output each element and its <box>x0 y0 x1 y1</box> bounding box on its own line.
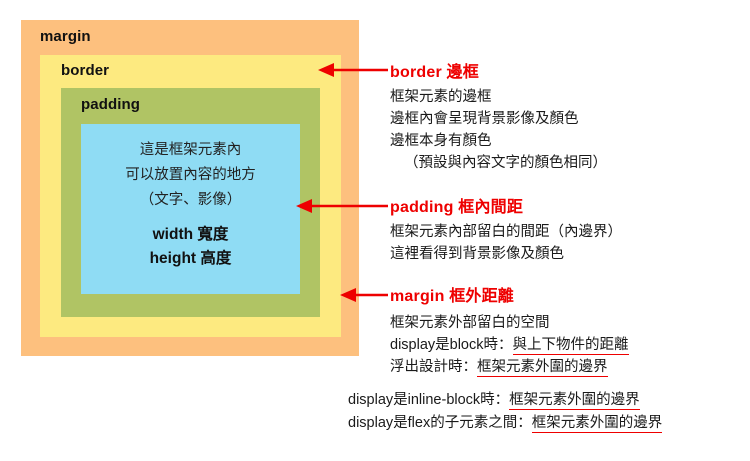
body-rule: 浮出設計時：框架元素外圍的邊界 <box>390 356 629 378</box>
body-rule: display是block時：與上下物件的距離 <box>390 334 629 356</box>
body-rule: display是flex的子元素之間：框架元素外圍的邊界 <box>348 412 662 435</box>
section-body-padding: 框架元素內部留白的間距（內邊界） 這裡看得到背景影像及顏色 <box>390 221 622 265</box>
body-line: 邊框內會呈現背景影像及顏色 <box>390 108 607 130</box>
section-heading-border: border 邊框 <box>390 58 479 82</box>
rule-underlined: 框架元素外圍的邊界 <box>477 359 608 377</box>
rule-prefix: 浮出設計時： <box>390 359 477 375</box>
tail-rules: display是inline-block時：框架元素外圍的邊界 display是… <box>348 389 662 435</box>
body-line: 框架元素的邊框 <box>390 86 607 108</box>
description-panel: border 邊框 框架元素的邊框 邊框內會呈現背景影像及顏色 邊框本身有顏色 … <box>0 0 750 461</box>
section-heading-padding: padding 框內間距 <box>390 193 523 217</box>
rule-underlined: 框架元素外圍的邊界 <box>509 392 640 410</box>
rule-underlined: 框架元素外圍的邊界 <box>532 415 663 433</box>
body-line: 框架元素內部留白的間距（內邊界） <box>390 221 622 243</box>
body-line: （預設與內容文字的顏色相同） <box>390 152 607 174</box>
rule-prefix: display是flex的子元素之間： <box>348 415 532 431</box>
section-heading-margin: margin 框外距離 <box>390 282 514 306</box>
body-line: 邊框本身有顏色 <box>390 130 607 152</box>
rule-underlined: 與上下物件的距離 <box>513 337 629 355</box>
rule-prefix: display是block時： <box>390 337 513 353</box>
diagram-canvas: margin border padding 這是框架元素內 可以放置內容的地方 … <box>0 0 750 461</box>
rule-prefix: display是inline-block時： <box>348 392 509 408</box>
body-rule: display是inline-block時：框架元素外圍的邊界 <box>348 389 662 412</box>
body-line: 框架元素外部留白的空間 <box>390 312 629 334</box>
section-body-border: 框架元素的邊框 邊框內會呈現背景影像及顏色 邊框本身有顏色 （預設與內容文字的顏… <box>390 86 607 174</box>
body-line: 這裡看得到背景影像及顏色 <box>390 243 622 265</box>
section-body-margin: 框架元素外部留白的空間 display是block時：與上下物件的距離 浮出設計… <box>390 312 629 378</box>
